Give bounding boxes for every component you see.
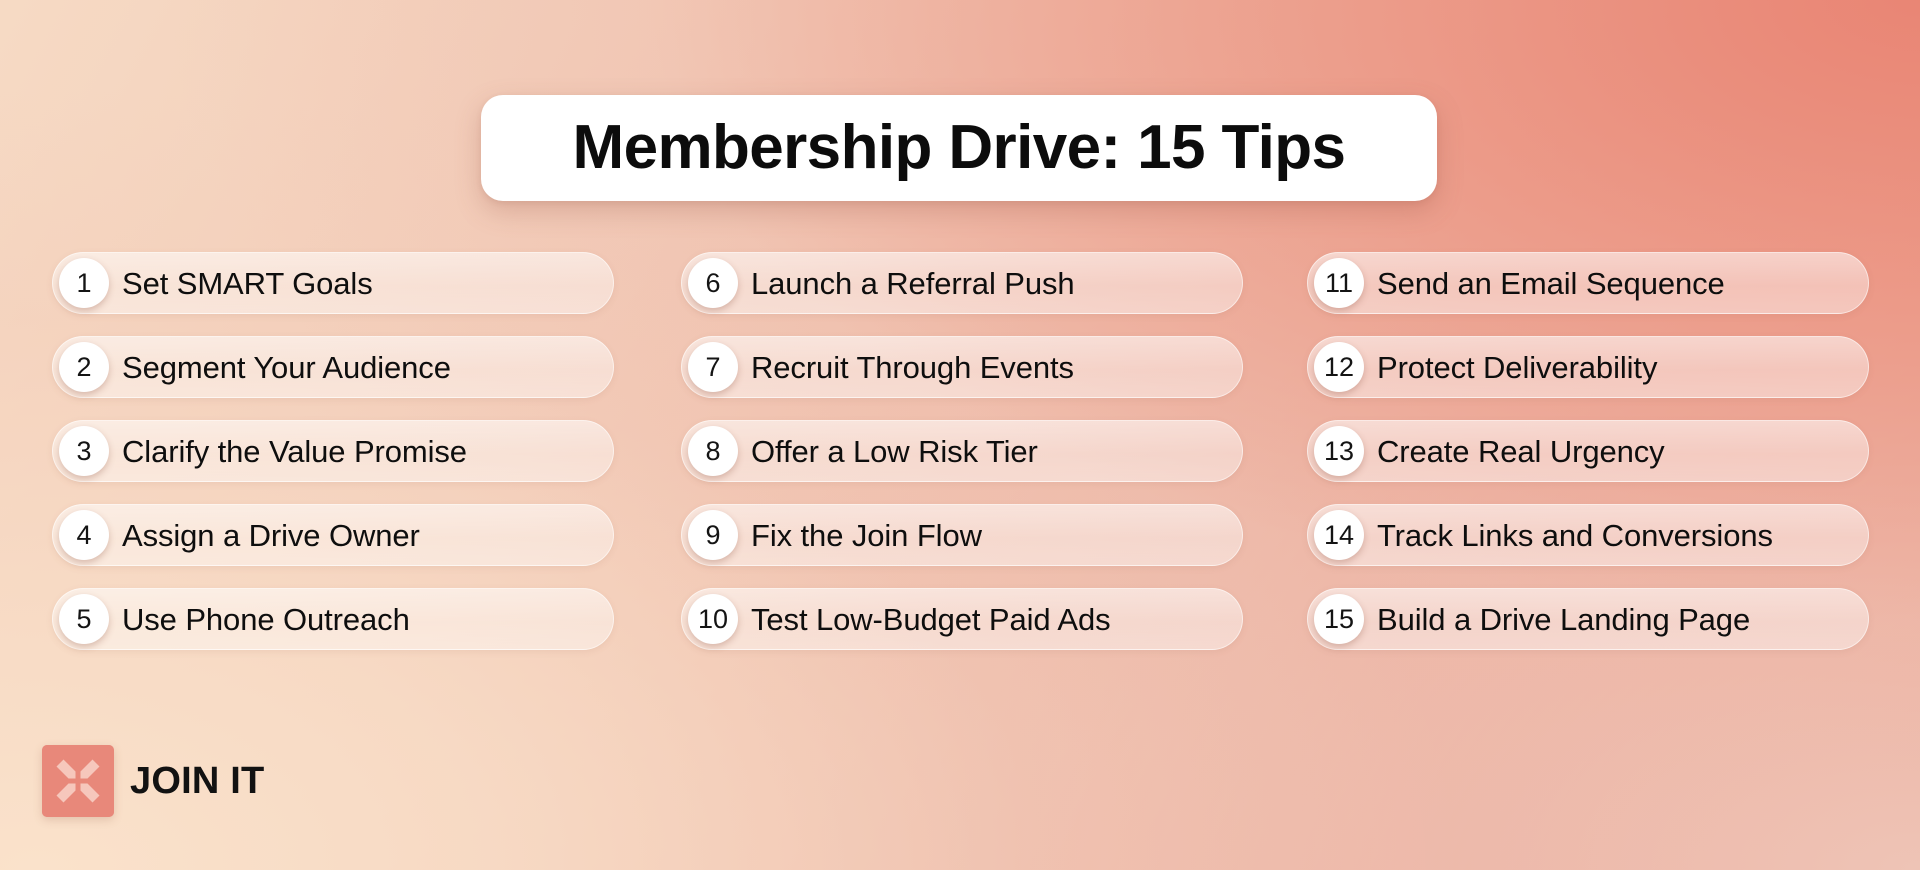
tip-number-badge: 10 [688,594,738,644]
title-card: Membership Drive: 15 Tips [481,95,1437,201]
tip-number-badge: 1 [59,258,109,308]
tip-item[interactable]: 12 Protect Deliverability [1307,336,1869,398]
tips-column-3: 11 Send an Email Sequence 12 Protect Del… [1307,252,1869,650]
tip-item[interactable]: 2 Segment Your Audience [52,336,614,398]
tip-label: Track Links and Conversions [1377,520,1773,551]
tip-label: Create Real Urgency [1377,436,1665,467]
tip-number-badge: 12 [1314,342,1364,392]
tip-label: Send an Email Sequence [1377,268,1725,299]
tip-label: Launch a Referral Push [751,268,1075,299]
tip-item[interactable]: 6 Launch a Referral Push [681,252,1243,314]
tip-label: Assign a Drive Owner [122,520,420,551]
tip-item[interactable]: 8 Offer a Low Risk Tier [681,420,1243,482]
tip-item[interactable]: 9 Fix the Join Flow [681,504,1243,566]
tip-item[interactable]: 15 Build a Drive Landing Page [1307,588,1869,650]
tip-number-badge: 6 [688,258,738,308]
tip-label: Build a Drive Landing Page [1377,604,1750,635]
brand-name: JOIN IT [130,762,264,800]
tip-number-badge: 5 [59,594,109,644]
tips-column-1: 1 Set SMART Goals 2 Segment Your Audienc… [52,252,614,650]
tip-number-badge: 14 [1314,510,1364,560]
tip-item[interactable]: 4 Assign a Drive Owner [52,504,614,566]
tip-label: Protect Deliverability [1377,352,1657,383]
tip-label: Test Low-Budget Paid Ads [751,604,1111,635]
tip-number-badge: 3 [59,426,109,476]
tips-columns: 1 Set SMART Goals 2 Segment Your Audienc… [0,252,1920,650]
tip-item[interactable]: 11 Send an Email Sequence [1307,252,1869,314]
tip-label: Recruit Through Events [751,352,1074,383]
page-title: Membership Drive: 15 Tips [573,117,1346,179]
tip-number-badge: 9 [688,510,738,560]
tip-item[interactable]: 13 Create Real Urgency [1307,420,1869,482]
tip-item[interactable]: 3 Clarify the Value Promise [52,420,614,482]
tip-number-badge: 8 [688,426,738,476]
converging-arrows-icon [42,745,114,817]
tip-number-badge: 7 [688,342,738,392]
tips-column-2: 6 Launch a Referral Push 7 Recruit Throu… [681,252,1243,650]
tip-number-badge: 11 [1314,258,1364,308]
tip-item[interactable]: 7 Recruit Through Events [681,336,1243,398]
tip-label: Set SMART Goals [122,268,373,299]
tip-item[interactable]: 10 Test Low-Budget Paid Ads [681,588,1243,650]
tip-label: Clarify the Value Promise [122,436,467,467]
tip-label: Use Phone Outreach [122,604,410,635]
brand-lockup[interactable]: JOIN IT [42,745,264,817]
tip-label: Segment Your Audience [122,352,451,383]
tip-number-badge: 13 [1314,426,1364,476]
tip-item[interactable]: 1 Set SMART Goals [52,252,614,314]
tip-number-badge: 2 [59,342,109,392]
tip-number-badge: 15 [1314,594,1364,644]
tip-label: Fix the Join Flow [751,520,982,551]
infographic-canvas: Membership Drive: 15 Tips 1 Set SMART Go… [0,0,1920,870]
tip-item[interactable]: 5 Use Phone Outreach [52,588,614,650]
tip-label: Offer a Low Risk Tier [751,436,1038,467]
tip-item[interactable]: 14 Track Links and Conversions [1307,504,1869,566]
tip-number-badge: 4 [59,510,109,560]
